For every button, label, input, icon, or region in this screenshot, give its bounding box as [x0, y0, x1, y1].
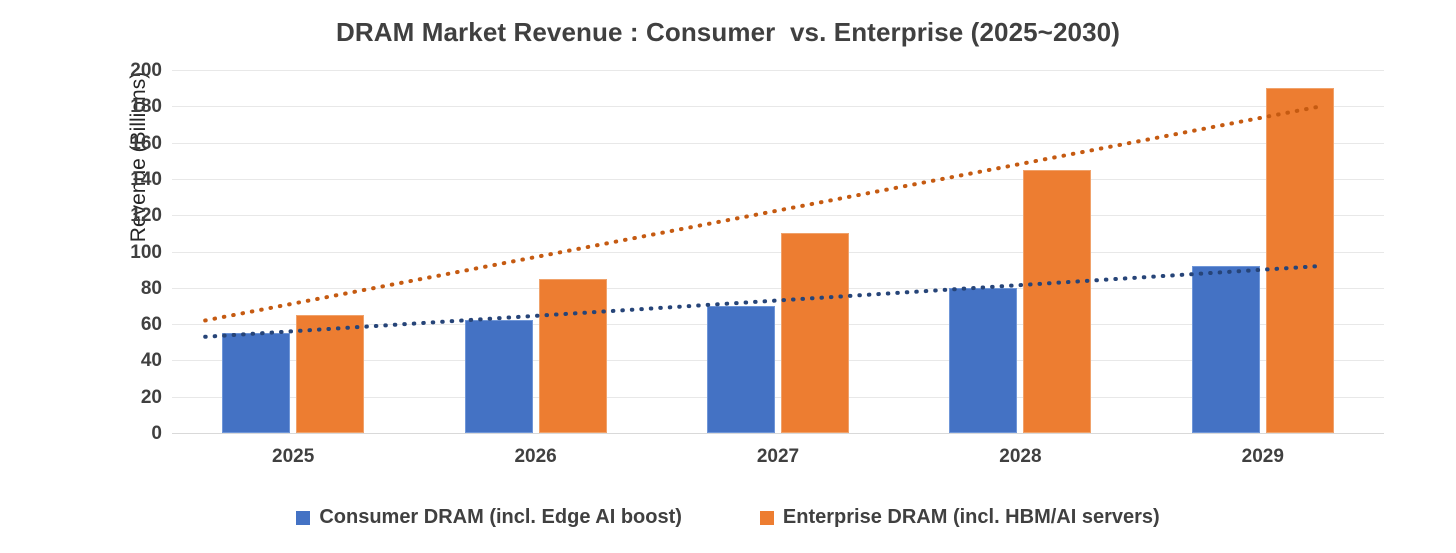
y-axis-tick-label: 180 [102, 97, 162, 116]
y-axis-tick-label: 200 [102, 61, 162, 80]
x-axis-tick-label-2025: 2025 [213, 447, 373, 466]
legend-entry-consumer[interactable]: Consumer DRAM (incl. Edge AI boost) [296, 506, 682, 529]
y-axis-tick-label: 120 [102, 206, 162, 225]
y-axis-tick-label: 140 [102, 170, 162, 189]
gridline [172, 70, 1384, 71]
bar-2025-enterprise[interactable] [296, 315, 364, 433]
bar-2026-enterprise[interactable] [539, 279, 607, 433]
legend-label: Consumer DRAM (incl. Edge AI boost) [319, 506, 682, 529]
legend-swatch-icon [760, 511, 774, 525]
y-axis-tick-label: 0 [102, 424, 162, 443]
legend-label: Enterprise DRAM (incl. HBM/AI servers) [783, 506, 1160, 529]
y-axis-tick-label: 100 [102, 243, 162, 262]
legend-swatch-icon [296, 511, 310, 525]
y-axis-tick-label: 160 [102, 134, 162, 153]
x-axis-tick-label-2028: 2028 [940, 447, 1100, 466]
legend-entry-enterprise[interactable]: Enterprise DRAM (incl. HBM/AI servers) [760, 506, 1160, 529]
axis-baseline [172, 433, 1384, 434]
y-axis-tick-label: 80 [102, 279, 162, 298]
gridline [172, 106, 1384, 107]
y-axis-tick-label: 20 [102, 388, 162, 407]
bar-2025-consumer[interactable] [222, 333, 290, 433]
gridline [172, 143, 1384, 144]
x-axis-tick-label-2026: 2026 [456, 447, 616, 466]
gridline [172, 179, 1384, 180]
y-axis-tick-label: 60 [102, 315, 162, 334]
bar-2027-consumer[interactable] [707, 306, 775, 433]
gridline [172, 252, 1384, 253]
chart-legend: Consumer DRAM (incl. Edge AI boost)Enter… [0, 506, 1456, 529]
bar-2026-consumer[interactable] [465, 320, 533, 433]
chart-title: DRAM Market Revenue : Consumer vs. Enter… [0, 17, 1456, 48]
bar-2029-consumer[interactable] [1192, 266, 1260, 433]
bar-2027-enterprise[interactable] [781, 233, 849, 433]
y-axis-tick-label: 40 [102, 351, 162, 370]
bar-2029-enterprise[interactable] [1266, 88, 1334, 433]
plot-area [172, 70, 1384, 433]
gridline [172, 215, 1384, 216]
x-axis-tick-label-2027: 2027 [698, 447, 858, 466]
x-axis-tick-label-2029: 2029 [1183, 447, 1343, 466]
bar-2028-enterprise[interactable] [1023, 170, 1091, 433]
chart-container: DRAM Market Revenue : Consumer vs. Enter… [0, 0, 1456, 553]
bar-2028-consumer[interactable] [949, 288, 1017, 433]
